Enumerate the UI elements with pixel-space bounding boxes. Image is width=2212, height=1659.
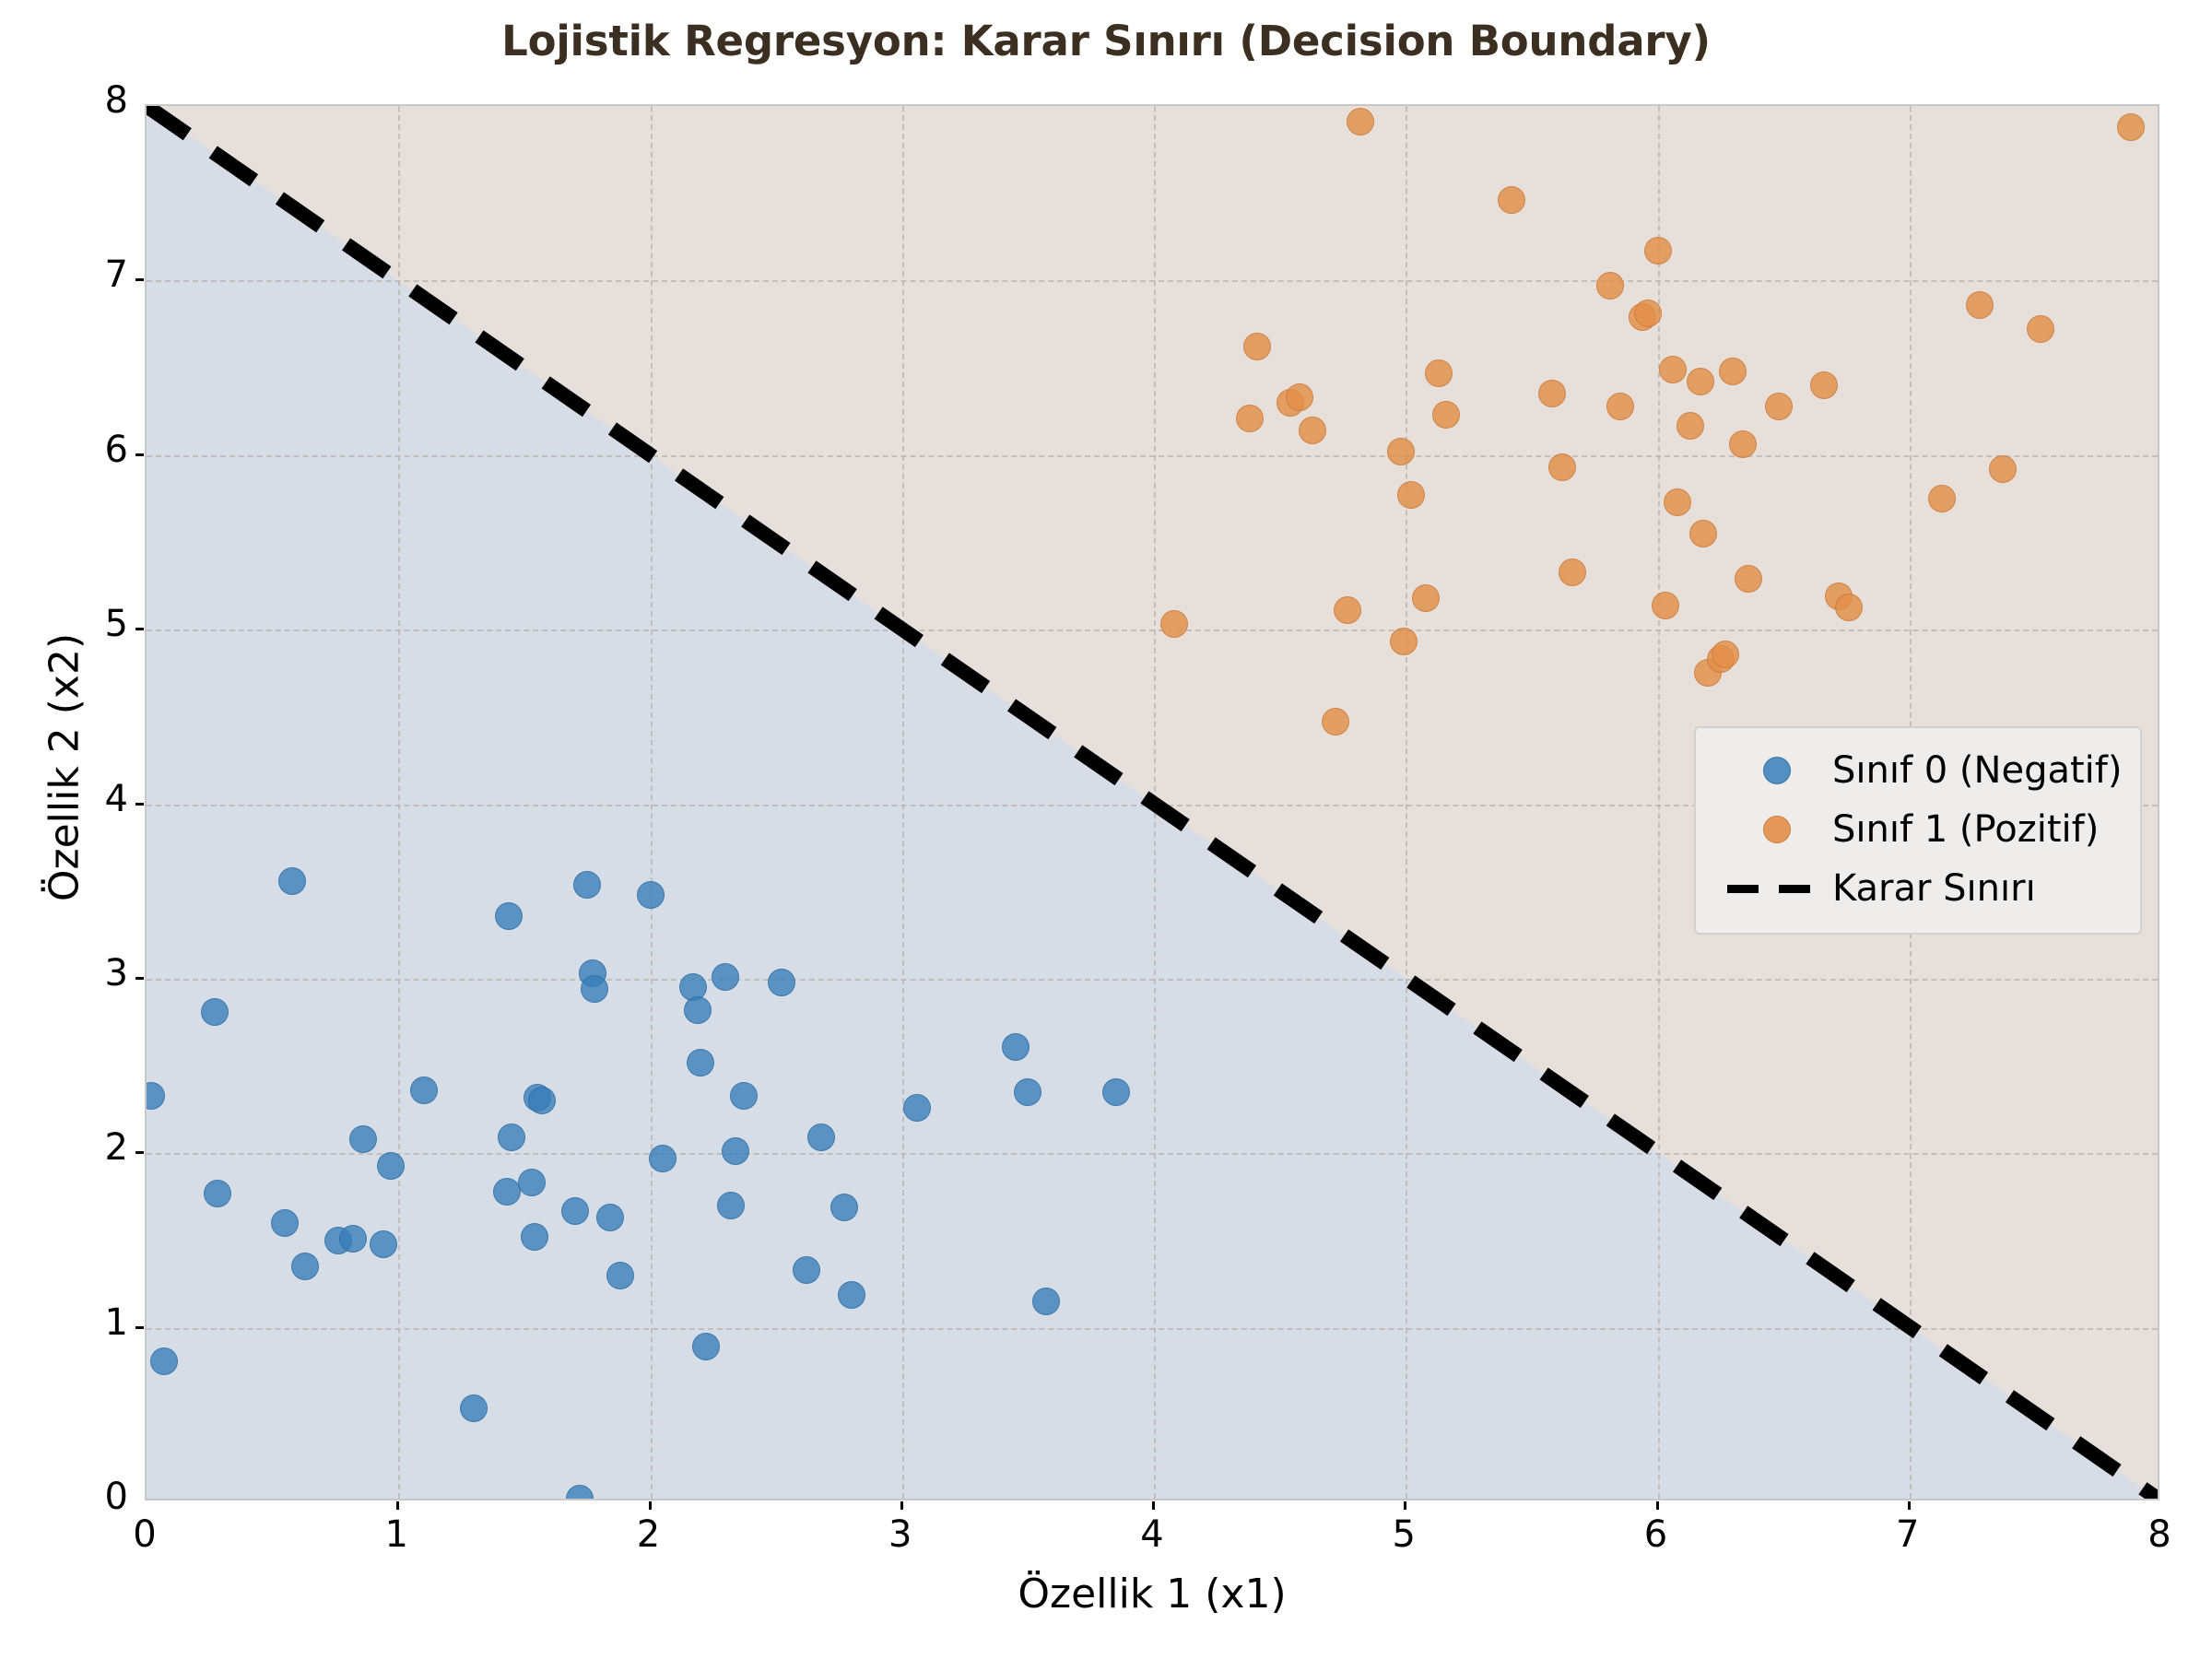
legend-marker-class1 (1722, 816, 1832, 843)
scatter-point (730, 1082, 758, 1110)
scatter-point (1689, 520, 1717, 547)
scatter-point (596, 1204, 624, 1231)
legend-item-boundary: Karar Sınırı (1696, 859, 2140, 918)
scatter-point (561, 1197, 589, 1225)
gridline-vertical (1154, 106, 1156, 1499)
gridline-horizontal (147, 629, 2158, 631)
scatter-point (903, 1094, 931, 1122)
gridline-vertical (1406, 106, 1407, 1499)
gridline-horizontal (147, 1153, 2158, 1155)
y-tick-label: 1 (27, 1301, 128, 1344)
scatter-point (370, 1230, 397, 1258)
scatter-point (377, 1152, 405, 1180)
gridline-horizontal (147, 280, 2158, 282)
scatter-point (1644, 237, 1672, 265)
scatter-point (1966, 291, 1994, 319)
x-tick-mark (1908, 1501, 1911, 1510)
x-tick-label: 3 (845, 1513, 956, 1556)
x-axis-label: Özellik 1 (x1) (145, 1571, 2159, 1618)
scatter-point (1659, 356, 1687, 383)
legend-label-class0: Sınıf 0 (Negatif) (1832, 749, 2122, 792)
scatter-point (1002, 1033, 1030, 1061)
scatter-point (339, 1225, 367, 1253)
scatter-point (1634, 300, 1662, 327)
scatter-point (460, 1394, 488, 1422)
legend-item-class1: Sınıf 1 (Pozitif) (1696, 800, 2140, 859)
y-tick-mark (135, 977, 144, 980)
scatter-point (768, 969, 795, 996)
scatter-point (1432, 401, 1460, 429)
legend-label-boundary: Karar Sınırı (1832, 867, 2036, 910)
x-tick-label: 2 (594, 1513, 704, 1556)
gridline-vertical (398, 106, 400, 1499)
x-tick-label: 7 (1853, 1513, 1963, 1556)
scatter-point (1425, 359, 1453, 387)
scatter-point (1765, 393, 1793, 420)
scatter-point (150, 1347, 178, 1375)
scatter-point (1412, 584, 1440, 612)
x-tick-mark (649, 1501, 652, 1510)
scatter-point (521, 1223, 548, 1251)
scatter-point (717, 1192, 745, 1219)
x-tick-mark (1152, 1501, 1155, 1510)
y-tick-label: 0 (27, 1476, 128, 1518)
scatter-point (1032, 1288, 1060, 1315)
scatter-point (204, 1180, 231, 1207)
x-tick-label: 0 (89, 1513, 200, 1556)
y-axis-label: Özellik 2 (x2) (41, 445, 88, 1090)
chart-title: Lojistik Regresyon: Karar Sınırı (Decisi… (0, 17, 2212, 65)
scatter-point (410, 1077, 438, 1104)
gridline-vertical (902, 106, 904, 1499)
x-tick-label: 4 (1097, 1513, 1207, 1556)
legend-label-class1: Sınıf 1 (Pozitif) (1832, 808, 2099, 851)
y-tick-mark (135, 453, 144, 456)
scatter-point (838, 1281, 865, 1309)
x-tick-label: 5 (1348, 1513, 1459, 1556)
scatter-point (1687, 368, 1714, 395)
scatter-point (830, 1194, 858, 1221)
scatter-point (1606, 393, 1634, 420)
scatter-point (1712, 641, 1739, 668)
scatter-point (637, 881, 665, 909)
x-tick-label: 8 (2104, 1513, 2212, 1556)
chart-figure: Lojistik Regresyon: Karar Sınırı (Decisi… (0, 0, 2212, 1659)
x-tick-mark (396, 1501, 399, 1510)
y-tick-mark (135, 1151, 144, 1154)
y-tick-mark (135, 628, 144, 630)
scatter-point (1397, 481, 1425, 509)
x-tick-label: 1 (341, 1513, 452, 1556)
scatter-point (1347, 108, 1374, 135)
scatter-point (649, 1145, 677, 1172)
scatter-point (201, 998, 229, 1026)
scatter-point (1810, 371, 1838, 399)
scatter-point (1735, 565, 1762, 593)
x-tick-mark (1656, 1501, 1659, 1510)
gridline-vertical (651, 106, 653, 1499)
scatter-point (606, 1262, 634, 1289)
scatter-point (1652, 592, 1679, 619)
y-tick-mark (135, 1326, 144, 1329)
scatter-point (1390, 628, 1418, 655)
scatter-point (793, 1256, 820, 1284)
gridline-horizontal (147, 1328, 2158, 1330)
scatter-point (1596, 272, 1624, 300)
scatter-point (493, 1178, 521, 1206)
scatter-point (1989, 455, 2017, 483)
scatter-point (1559, 559, 1586, 586)
legend-item-class0: Sınıf 0 (Negatif) (1696, 741, 2140, 800)
scatter-point (495, 902, 523, 930)
y-tick-label: 2 (27, 1126, 128, 1169)
y-tick-mark (135, 278, 144, 281)
y-tick-label: 8 (27, 79, 128, 122)
legend-marker-class0 (1722, 757, 1832, 784)
x-tick-mark (1404, 1501, 1406, 1510)
scatter-point (1387, 438, 1415, 465)
y-tick-mark (135, 803, 144, 806)
y-tick-label: 7 (27, 253, 128, 296)
scatter-point (1236, 405, 1264, 432)
x-tick-mark (900, 1501, 903, 1510)
scatter-point (1835, 594, 1863, 621)
chart-legend[interactable]: Sınıf 0 (Negatif) Sınıf 1 (Pozitif) Kara… (1694, 726, 2142, 935)
scatter-point (2117, 113, 2145, 141)
legend-marker-boundary (1722, 885, 1832, 893)
scatter-point (573, 871, 601, 899)
scatter-point (1102, 1078, 1130, 1106)
scatter-point (349, 1125, 377, 1153)
scatter-point (692, 1333, 720, 1360)
scatter-point (1677, 412, 1704, 440)
x-tick-label: 6 (1601, 1513, 1712, 1556)
scatter-point (1548, 453, 1576, 481)
scatter-point (687, 1049, 714, 1077)
gridline-horizontal (147, 979, 2158, 981)
gridline-horizontal (147, 455, 2158, 457)
